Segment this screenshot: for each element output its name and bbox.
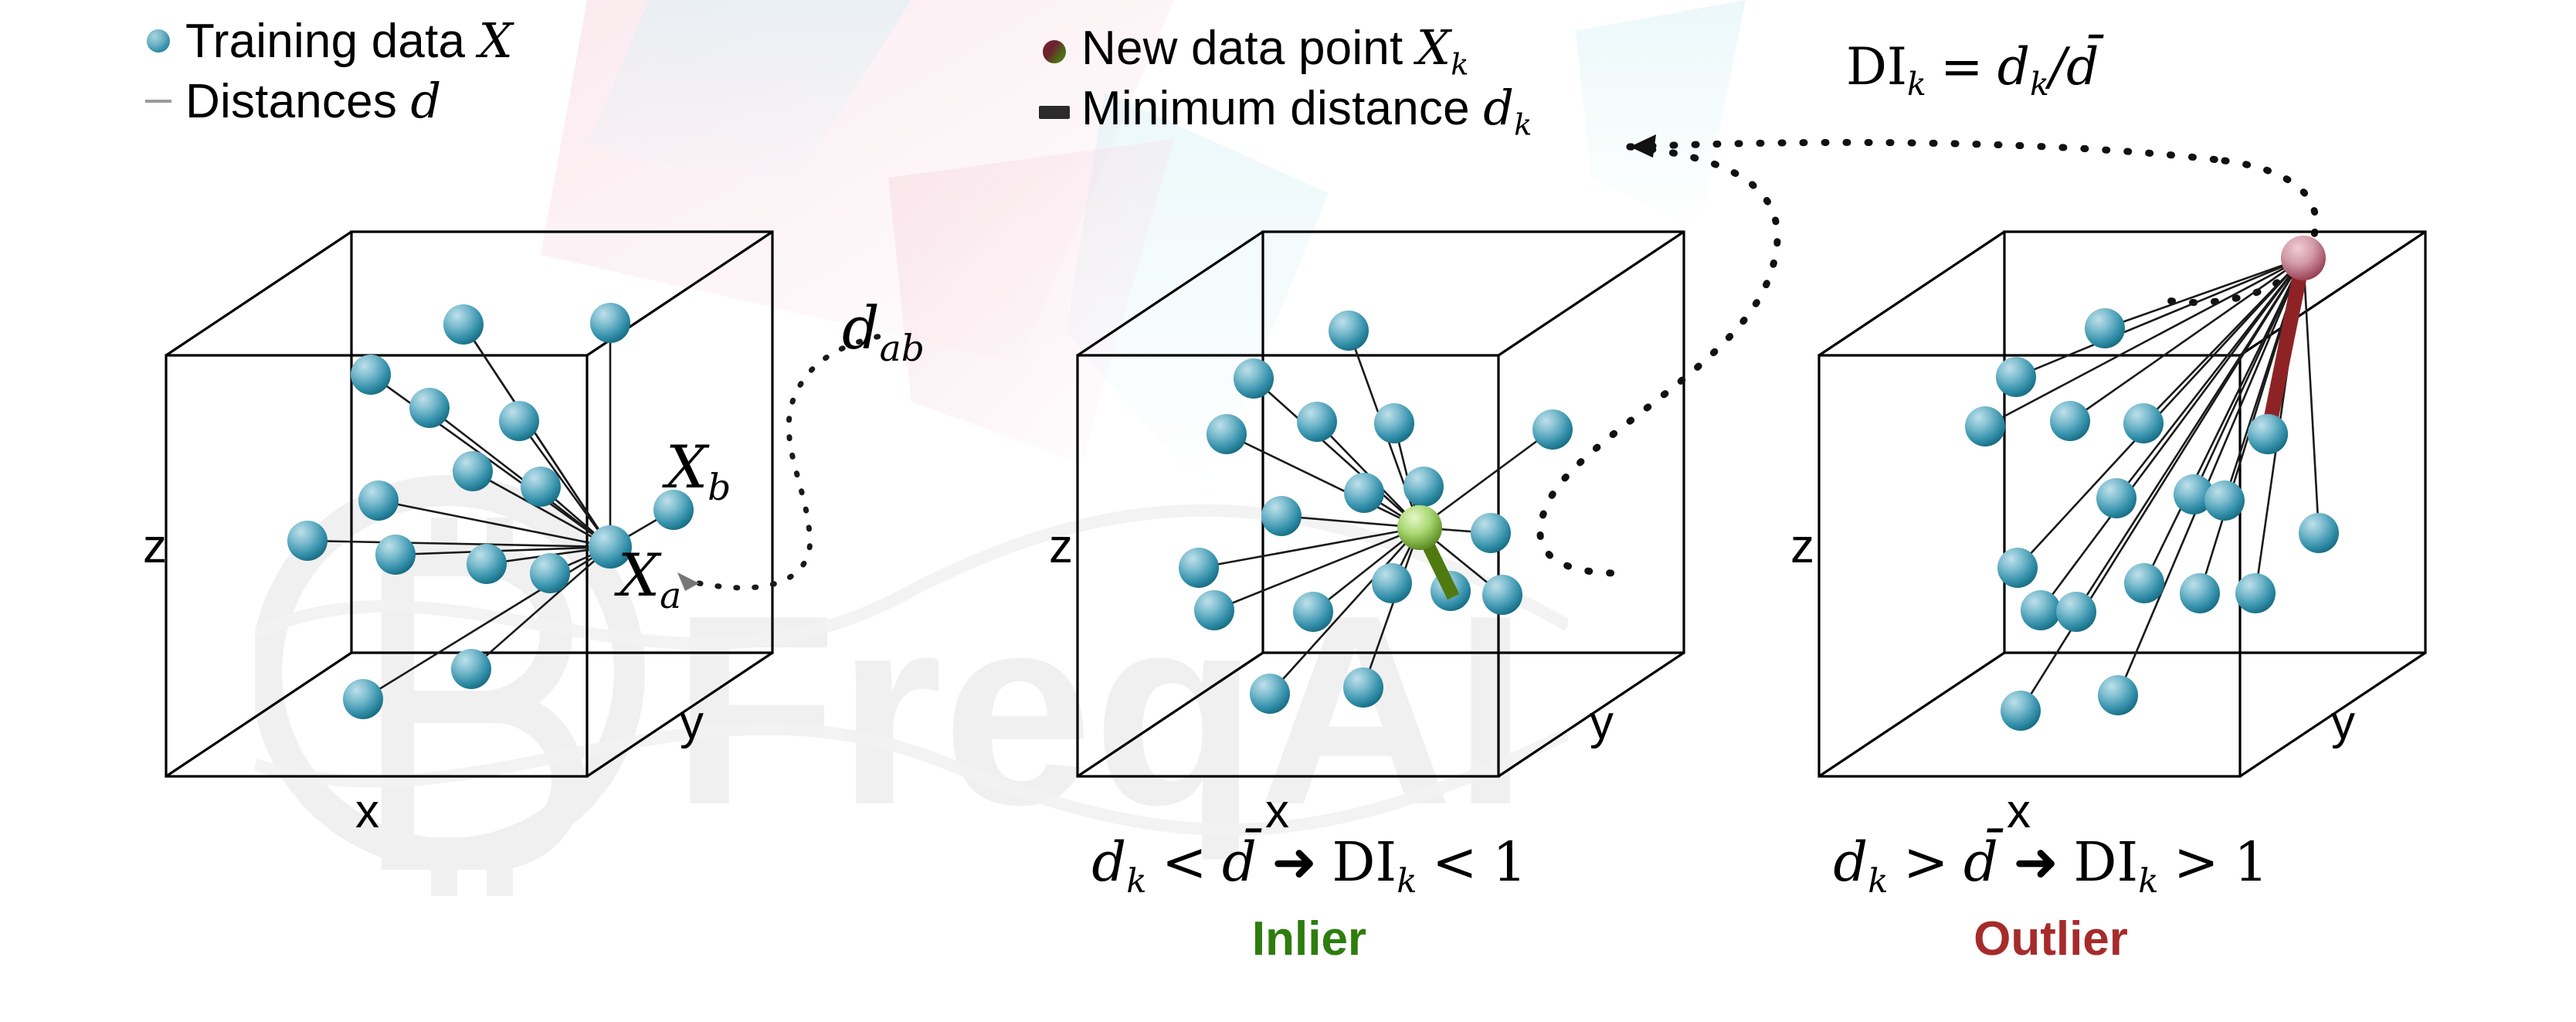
training-point: [2123, 403, 2164, 443]
training-point: [530, 553, 570, 593]
panel-inlier-axis-z: z: [1049, 519, 1073, 574]
panel-outlier-axis-z: z: [1790, 519, 1814, 574]
dk-callout-arrow: [1630, 134, 1656, 158]
training-point: [467, 544, 507, 584]
figure-canvas: FreqAI Training data X Distances d New d…: [0, 0, 2576, 1022]
training-point-nearest: [2248, 414, 2288, 454]
training-point: [358, 480, 399, 521]
training-point: [2085, 308, 2125, 348]
training-point: [1234, 358, 1274, 399]
dk-callout-curve-left: [1540, 147, 1777, 573]
arrow-icon: ➜: [2013, 832, 2058, 892]
training-point: [2021, 590, 2061, 630]
training-point: [375, 535, 416, 575]
training-point: [1344, 473, 1384, 513]
training-point: [1194, 590, 1234, 630]
training-point: [499, 401, 539, 441]
training-point: [2001, 691, 2041, 731]
panel-training-axis-y: y: [680, 695, 704, 750]
panel-inlier-verdict: Inlier: [1000, 912, 1618, 966]
dk-callout-curve-top: [1630, 142, 2225, 161]
training-point: [1297, 402, 1337, 442]
panel-training-axis-x: x: [355, 784, 379, 839]
training-point: [443, 304, 484, 345]
training-point: [2098, 675, 2138, 715]
panel-outlier-axis-y: y: [2331, 695, 2355, 750]
training-point: [1250, 674, 1290, 714]
panel-outlier-caption: dk > d̄ ➜ DIk > 1 Outlier: [1742, 830, 2360, 966]
point-label-Xa: Xa: [618, 541, 681, 617]
training-point: [2235, 573, 2276, 613]
new-data-point-inlier: [1397, 505, 1442, 550]
training-point: [1532, 409, 1573, 450]
training-point: [1261, 496, 1302, 536]
training-point: [1965, 406, 2005, 446]
training-point: [343, 679, 383, 719]
panel-training-axis-z: z: [143, 519, 167, 574]
training-point: [409, 388, 450, 428]
training-point: [287, 521, 328, 561]
training-point: [1471, 513, 1511, 553]
training-point: [2299, 513, 2339, 553]
training-point: [1996, 357, 2036, 397]
point-label-Xb: Xb: [666, 433, 731, 509]
training-point: [1374, 403, 1414, 443]
training-point: [451, 649, 491, 689]
training-point: [1207, 414, 1247, 454]
panel-inlier-caption: dk < d̄ ➜ DIk < 1 Inlier: [1000, 830, 1618, 966]
panel-outlier-verdict: Outlier: [1742, 912, 2360, 966]
training-point: [2050, 401, 2090, 441]
training-point: [1403, 467, 1444, 507]
panel-inlier-axis-y: y: [1590, 695, 1614, 750]
training-point: [1179, 548, 1219, 588]
arrow-icon: ➜: [1271, 832, 1317, 892]
training-point: [2056, 592, 2096, 632]
distance-label-dab: dab: [842, 294, 925, 370]
panel-outlier-points: [1965, 236, 2339, 731]
training-point: [2096, 478, 2136, 518]
training-point: [1329, 311, 1369, 351]
panel-outlier-distance-lines: [1985, 258, 2319, 711]
training-point: [1482, 575, 1522, 615]
new-data-point-outlier: [2281, 236, 2326, 280]
training-point: [1372, 563, 1412, 603]
panel-outlier-formula: dk > d̄ ➜ DIk > 1: [1742, 830, 2360, 901]
training-point: [351, 355, 391, 395]
training-point: [1997, 548, 2038, 588]
training-point: [590, 303, 630, 343]
panel-inlier-formula: dk < d̄ ➜ DIk < 1: [1000, 830, 1618, 901]
training-point: [1293, 592, 1333, 632]
training-point: [2204, 480, 2245, 521]
training-point: [2180, 573, 2220, 613]
training-point: [2124, 563, 2164, 603]
training-point: [521, 467, 561, 507]
training-point: [453, 451, 493, 491]
training-point: [1343, 667, 1383, 708]
